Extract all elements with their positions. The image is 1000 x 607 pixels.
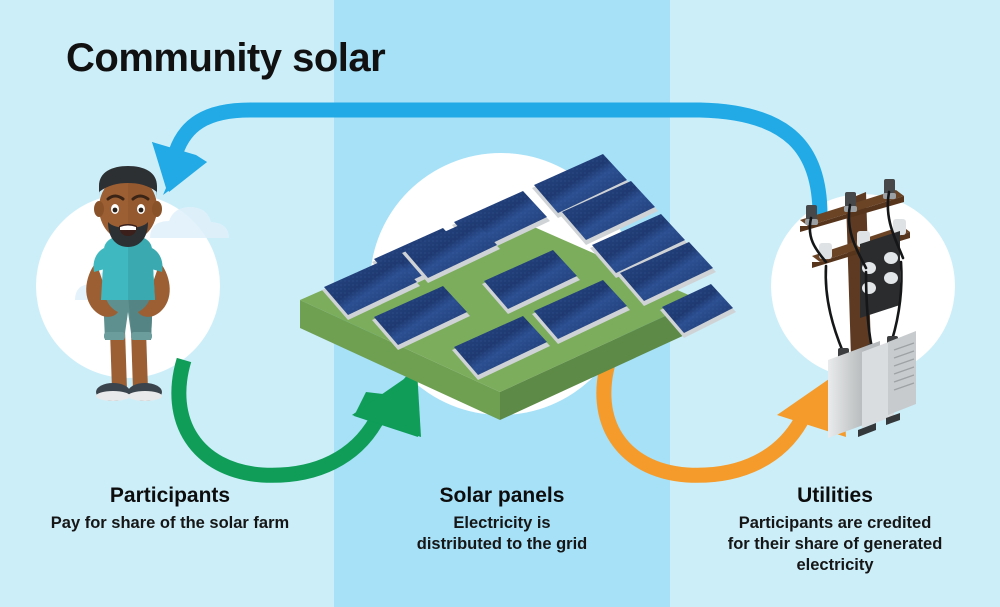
- column-description-participants: Pay for share of the solar farm: [10, 513, 330, 534]
- caption-solar-panels: Solar panels Electricity is distributed …: [340, 484, 664, 555]
- caption-participants: Participants Pay for share of the solar …: [10, 484, 330, 534]
- column-description-utilities: Participants are credited for their shar…: [676, 513, 994, 576]
- description-line: electricity: [676, 555, 994, 576]
- description-line: for their share of generated: [676, 534, 994, 555]
- green-arrow: [179, 360, 421, 475]
- description-line: Pay for share of the solar farm: [10, 513, 330, 534]
- community-solar-infographic: Community solar: [0, 0, 1000, 607]
- column-description-solar-panels: Electricity is distributed to the grid: [340, 513, 664, 555]
- column-title-solar-panels: Solar panels: [340, 484, 664, 507]
- description-line: Participants are credited: [676, 513, 994, 534]
- description-line: distributed to the grid: [340, 534, 664, 555]
- transformer-left: [828, 346, 866, 438]
- solar-farm-icon: [300, 154, 736, 420]
- caption-utilities: Utilities Participants are credited for …: [676, 484, 994, 576]
- column-title-participants: Participants: [10, 484, 330, 507]
- orange-arrow: [604, 360, 846, 475]
- column-title-utilities: Utilities: [676, 484, 994, 507]
- description-line: Electricity is: [340, 513, 664, 534]
